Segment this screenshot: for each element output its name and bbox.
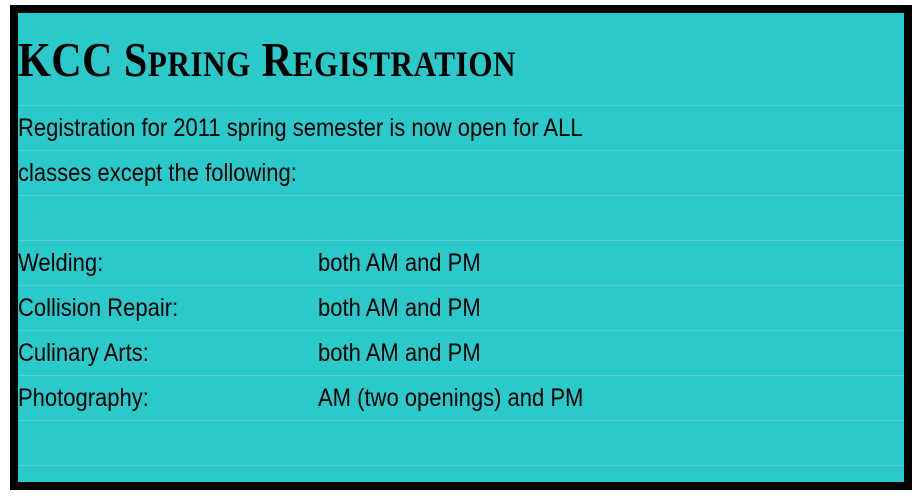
title-row: KCC SPRING REGISTRATION: [18, 13, 904, 106]
page-title: KCC SPRING REGISTRATION: [18, 35, 516, 84]
intro-row-1: Registration for 2011 spring semester is…: [18, 106, 904, 151]
class-label-cell: Collision Repair:: [18, 286, 318, 331]
title-part-kcc: KCC: [18, 32, 124, 87]
spacer-row-top: [18, 196, 904, 241]
class-value: both AM and PM: [318, 341, 481, 366]
intro-cell-2: classes except the following:: [18, 151, 904, 196]
class-label: Welding:: [18, 251, 103, 276]
intro-line-2: classes except the following:: [18, 161, 297, 186]
title-part-s: S: [124, 32, 148, 87]
spacer-cell-bottom-1: [18, 421, 904, 466]
announcement-slide: KCC SPRING REGISTRATION Registration for…: [0, 0, 920, 496]
class-value-cell: AM (two openings) and PM: [318, 376, 904, 421]
class-value: both AM and PM: [318, 296, 481, 321]
class-value: AM (two openings) and PM: [318, 386, 583, 411]
intro-cell-1: Registration for 2011 spring semester is…: [18, 106, 904, 151]
spacer-cell-top: [18, 196, 904, 241]
class-label: Culinary Arts:: [18, 341, 149, 366]
class-label-cell: Culinary Arts:: [18, 331, 318, 376]
class-label: Collision Repair:: [18, 296, 178, 321]
class-label: Photography:: [18, 386, 149, 411]
slide-border-frame: KCC SPRING REGISTRATION Registration for…: [10, 5, 912, 490]
title-part-pring: PRING: [148, 44, 251, 84]
title-part-space: [251, 32, 262, 87]
announcement-table: KCC SPRING REGISTRATION Registration for…: [18, 13, 904, 490]
class-value-cell: both AM and PM: [318, 331, 904, 376]
table-row: Culinary Arts: both AM and PM: [18, 331, 904, 376]
intro-row-2: classes except the following:: [18, 151, 904, 196]
title-part-r: R: [262, 32, 293, 87]
class-value-cell: both AM and PM: [318, 241, 904, 286]
title-cell: KCC SPRING REGISTRATION: [18, 13, 904, 106]
class-label-cell: Photography:: [18, 376, 318, 421]
spacer-row-bottom-1: [18, 421, 904, 466]
table-row: Photography: AM (two openings) and PM: [18, 376, 904, 421]
class-value-cell: both AM and PM: [318, 286, 904, 331]
spacer-cell-bottom-2: [18, 466, 904, 491]
title-part-egistration: EGISTRATION: [293, 44, 516, 84]
class-label-cell: Welding:: [18, 241, 318, 286]
class-value: both AM and PM: [318, 251, 481, 276]
table-row: Collision Repair: both AM and PM: [18, 286, 904, 331]
table-row: Welding: both AM and PM: [18, 241, 904, 286]
spacer-row-bottom-2: [18, 466, 904, 491]
intro-line-1: Registration for 2011 spring semester is…: [18, 116, 583, 141]
